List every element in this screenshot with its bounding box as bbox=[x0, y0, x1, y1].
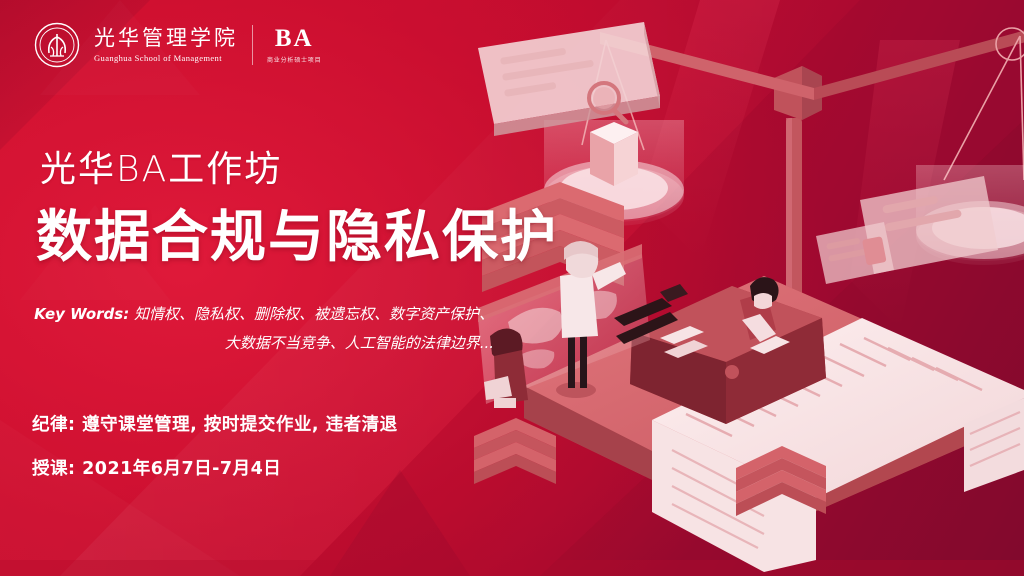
page-title: 数据合规与隐私保护 bbox=[36, 192, 558, 273]
school-name-en: Guanghua School of Management bbox=[94, 53, 238, 63]
keywords-line-1: Key Words: 知情权、隐私权、删除权、被遗忘权、数字资产保护、 bbox=[34, 300, 494, 329]
book-icon bbox=[590, 122, 638, 186]
id-card-screen-icon bbox=[816, 176, 998, 284]
keywords-label: Key Words: bbox=[34, 305, 129, 323]
brand-lockup: 光华管理学院 Guanghua School of Management BA … bbox=[34, 22, 321, 68]
program-abbr: BA bbox=[275, 26, 314, 51]
school-name-cn: 光华管理学院 bbox=[94, 27, 238, 49]
keywords-line-2: 大数据不当竞争、人工智能的法律边界... bbox=[34, 329, 494, 358]
isometric-law-illustration bbox=[464, 0, 1024, 576]
program-block: BA 商业分析硕士项目 bbox=[267, 26, 321, 64]
poster-canvas: 光华管理学院 Guanghua School of Management BA … bbox=[0, 0, 1024, 576]
school-name-block: 光华管理学院 Guanghua School of Management bbox=[94, 27, 238, 62]
schedule-text: 授课: 2021年6月7日-7月4日 bbox=[32, 455, 281, 480]
program-name-cn: 商业分析硕士项目 bbox=[267, 55, 321, 64]
kicker-text: 光华BA工作坊 bbox=[40, 140, 282, 192]
pku-seal-icon bbox=[34, 22, 80, 68]
stairs-lower-left-icon bbox=[474, 418, 556, 484]
brand-divider bbox=[252, 25, 253, 65]
keywords-text-1: 知情权、隐私权、删除权、被遗忘权、数字资产保护、 bbox=[129, 305, 494, 323]
discipline-text: 纪律: 遵守课堂管理, 按时提交作业, 违者清退 bbox=[32, 411, 398, 436]
keywords-block: Key Words: 知情权、隐私权、删除权、被遗忘权、数字资产保护、 大数据不… bbox=[34, 300, 494, 359]
